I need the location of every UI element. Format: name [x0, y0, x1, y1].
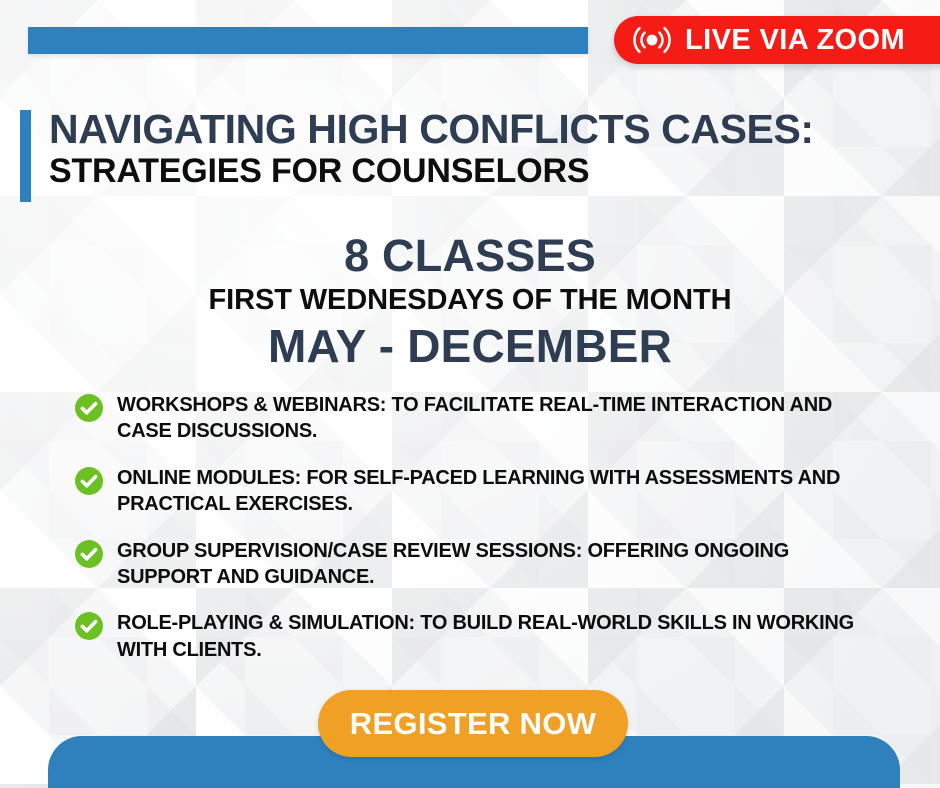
check-circle-icon — [74, 611, 104, 641]
list-item: ROLE-PLAYING & SIMULATION: TO BUILD REAL… — [74, 610, 874, 663]
check-circle-icon — [74, 466, 104, 496]
headline-line-1: NAVIGATING HIGH CONFLICTS CASES: — [49, 108, 920, 151]
headline-accent-bar — [20, 110, 31, 202]
list-item: GROUP SUPERVISION/CASE REVIEW SESSIONS: … — [74, 538, 874, 591]
top-accent-rule — [28, 27, 588, 54]
check-circle-icon — [74, 393, 104, 423]
list-item-text: ROLE-PLAYING & SIMULATION: TO BUILD REAL… — [117, 610, 874, 663]
live-badge-label: LIVE VIA ZOOM — [685, 26, 905, 55]
list-item: WORKSHOPS & WEBINARS: TO FACILITATE REAL… — [74, 392, 874, 445]
schedule-block: 8 CLASSES FIRST WEDNESDAYS OF THE MONTH … — [0, 232, 940, 372]
class-count: 8 CLASSES — [0, 232, 940, 279]
feature-list: WORKSHOPS & WEBINARS: TO FACILITATE REAL… — [74, 392, 874, 663]
list-item: ONLINE MODULES: FOR SELF-PACED LEARNING … — [74, 465, 874, 518]
live-via-zoom-badge: LIVE VIA ZOOM — [614, 16, 940, 64]
list-item-text: GROUP SUPERVISION/CASE REVIEW SESSIONS: … — [117, 538, 874, 591]
list-item-text: ONLINE MODULES: FOR SELF-PACED LEARNING … — [117, 465, 874, 518]
class-frequency: FIRST WEDNESDAYS OF THE MONTH — [0, 282, 940, 320]
broadcast-signal-icon — [632, 24, 672, 56]
class-date-range: MAY - DECEMBER — [0, 321, 940, 372]
register-now-button[interactable]: REGISTER NOW — [318, 690, 628, 757]
check-circle-icon — [74, 539, 104, 569]
list-item-text: WORKSHOPS & WEBINARS: TO FACILITATE REAL… — [117, 392, 874, 445]
headline-block: NAVIGATING HIGH CONFLICTS CASES: STRATEG… — [20, 108, 920, 191]
headline-line-2: STRATEGIES FOR COUNSELORS — [49, 151, 920, 191]
flyer-canvas: LIVE VIA ZOOM NAVIGATING HIGH CONFLICTS … — [0, 0, 940, 788]
